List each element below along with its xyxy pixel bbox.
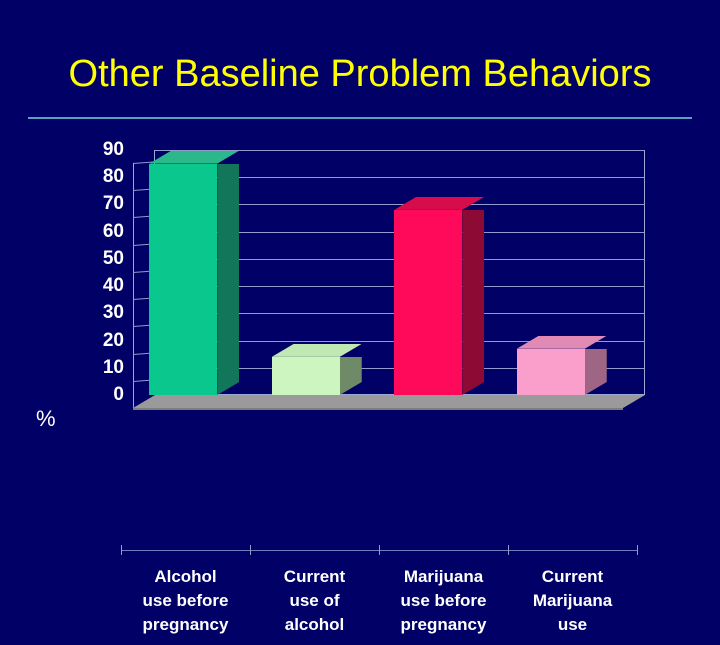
bar-side-face <box>462 210 484 395</box>
slide-root: { "slide": { "title": "Other Baseline Pr… <box>0 0 720 540</box>
x-axis-label-line: Alcohol <box>121 565 250 589</box>
bar-front-face <box>149 164 217 395</box>
x-axis-label-4: CurrentMarijuanause <box>508 565 637 637</box>
bar-3 <box>394 210 462 395</box>
y-axis-tick-60: 60 <box>78 222 124 241</box>
x-axis-tick <box>250 545 251 555</box>
x-axis-label-line: pregnancy <box>379 613 508 637</box>
y-axis-tick-labels: 9080706050403020100 <box>78 140 124 415</box>
x-axis-label-line: use <box>508 613 637 637</box>
x-axis-label-line: Current <box>250 565 379 589</box>
plot-floor <box>133 395 645 408</box>
title-divider <box>28 117 692 119</box>
x-axis-label-2: Currentuse ofalcohol <box>250 565 379 637</box>
y-axis-label: % <box>36 406 56 432</box>
x-axis-label-line: alcohol <box>250 613 379 637</box>
bar-front-face <box>272 357 340 395</box>
x-axis-label-line: Marijuana <box>379 565 508 589</box>
x-axis-label-line: pregnancy <box>121 613 250 637</box>
bar-front-face <box>394 210 462 395</box>
y-axis-tick-50: 50 <box>78 249 124 268</box>
y-axis-tick-80: 80 <box>78 167 124 186</box>
y-axis-tick-0: 0 <box>78 385 124 404</box>
x-axis-label-line: Current <box>508 565 637 589</box>
plot-area <box>133 150 645 408</box>
x-axis-label-line: Marijuana <box>508 589 637 613</box>
x-axis-tick <box>637 545 638 555</box>
bar-side-face <box>217 164 239 395</box>
y-axis-tick-90: 90 <box>78 140 124 159</box>
y-axis-tick-20: 20 <box>78 331 124 350</box>
plot-floor-edge <box>133 408 623 410</box>
page-title: Other Baseline Problem Behaviors <box>0 52 720 96</box>
x-axis-label-line: use before <box>379 589 508 613</box>
bar-chart: % 9080706050403020100 Alcoholuse beforep… <box>0 140 720 520</box>
x-axis-category-labels: Alcoholuse beforepregnancyCurrentuse ofa… <box>121 565 641 645</box>
x-axis-label-line: use of <box>250 589 379 613</box>
x-axis-tick <box>121 545 122 555</box>
x-axis-tick <box>379 545 380 555</box>
y-axis-tick-10: 10 <box>78 358 124 377</box>
x-axis-label-3: Marijuanause beforepregnancy <box>379 565 508 637</box>
bar-4 <box>517 349 585 395</box>
y-axis-tick-40: 40 <box>78 276 124 295</box>
y-axis-tick-30: 30 <box>78 303 124 322</box>
x-axis-tick <box>508 545 509 555</box>
bar-1 <box>149 164 217 395</box>
x-axis-label-line: use before <box>121 589 250 613</box>
x-axis-label-1: Alcoholuse beforepregnancy <box>121 565 250 637</box>
y-axis-tick-70: 70 <box>78 194 124 213</box>
bar-front-face <box>517 349 585 395</box>
bar-2 <box>272 357 340 395</box>
